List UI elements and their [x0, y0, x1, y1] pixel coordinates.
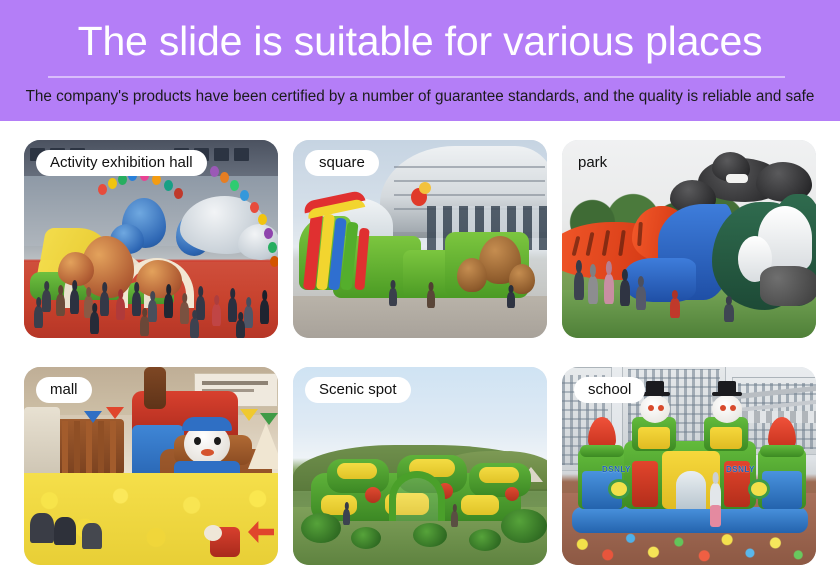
- page-subtitle: The company's products have been certifi…: [6, 84, 833, 110]
- card-label-square: square: [305, 150, 379, 176]
- page-title: The slide is suitable for various places: [0, 16, 840, 66]
- gallery-card-square[interactable]: square: [293, 140, 547, 338]
- gallery-card-activity-exhibition-hall[interactable]: Activity exhibition hall: [24, 140, 278, 338]
- banner-header: The slide is suitable for various places…: [0, 0, 840, 121]
- card-label-park: park: [574, 150, 621, 176]
- card-label-activity-exhibition-hall: Activity exhibition hall: [36, 150, 207, 176]
- card-label-scenic-spot: Scenic spot: [305, 377, 411, 403]
- card-label-mall: mall: [36, 377, 92, 403]
- card-label-school: school: [574, 377, 645, 403]
- gallery-card-park[interactable]: park: [562, 140, 816, 338]
- castle-logo-left: DSNLY: [602, 465, 631, 474]
- gallery-grid: Activity exhibition hall: [24, 140, 816, 565]
- castle-logo-right: DSNLY: [726, 465, 755, 474]
- title-divider: [48, 76, 785, 78]
- gallery-card-school[interactable]: DSNLY DSNLY school: [562, 367, 816, 565]
- gallery-card-mall[interactable]: mall: [24, 367, 278, 565]
- gallery-card-scenic-spot[interactable]: Scenic spot: [293, 367, 547, 565]
- promo-banner: The slide is suitable for various places…: [0, 0, 840, 581]
